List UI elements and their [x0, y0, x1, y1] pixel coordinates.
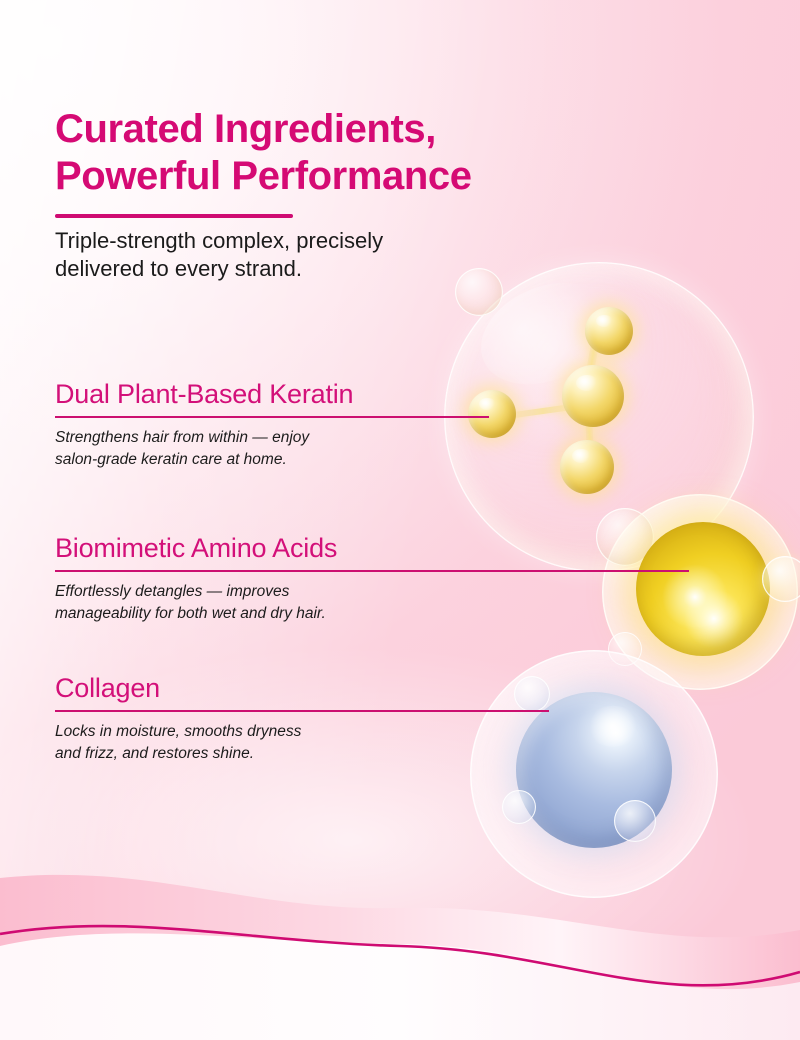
feature-title-collagen: Collagen: [55, 674, 549, 704]
content-layer: Curated Ingredients, Powerful Performanc…: [0, 0, 800, 1040]
feature-divider-collagen: [55, 710, 549, 712]
title-divider: [55, 214, 293, 218]
feature-desc-amino-acids-line-2: manageability for both wet and dry hair.: [55, 605, 326, 622]
page-title-line-2: Powerful Performance: [55, 153, 655, 200]
feature-block-amino-acids: Biomimetic Amino Acids Effortlessly deta…: [55, 534, 689, 625]
page-subtitle-line-1: Triple-strength complex, precisely: [55, 228, 383, 253]
feature-desc-amino-acids-line-1: Effortlessly detangles — improves: [55, 583, 289, 600]
feature-desc-collagen-line-1: Locks in moisture, smooths dryness: [55, 723, 301, 740]
feature-desc-keratin-line-1: Strengthens hair from within — enjoy: [55, 429, 309, 446]
page-subtitle-line-2: delivered to every strand.: [55, 256, 302, 281]
feature-title-amino-acids: Biomimetic Amino Acids: [55, 534, 689, 564]
feature-desc-collagen: Locks in moisture, smooths dryness and f…: [55, 721, 549, 765]
feature-desc-collagen-line-2: and frizz, and restores shine.: [55, 745, 254, 762]
feature-divider-amino-acids: [55, 570, 689, 572]
page-title: Curated Ingredients, Powerful Performanc…: [55, 106, 655, 200]
feature-block-keratin: Dual Plant-Based Keratin Strengthens hai…: [55, 380, 489, 471]
ingredient-infographic-poster: Curated Ingredients, Powerful Performanc…: [0, 0, 800, 1040]
page-title-line-1: Curated Ingredients,: [55, 106, 655, 153]
page-subtitle: Triple-strength complex, precisely deliv…: [55, 227, 485, 282]
feature-desc-amino-acids: Effortlessly detangles — improves manage…: [55, 581, 689, 625]
feature-block-collagen: Collagen Locks in moisture, smooths dryn…: [55, 674, 549, 765]
feature-desc-keratin: Strengthens hair from within — enjoy sal…: [55, 427, 489, 471]
feature-title-keratin: Dual Plant-Based Keratin: [55, 380, 489, 410]
feature-desc-keratin-line-2: salon-grade keratin care at home.: [55, 451, 287, 468]
feature-divider-keratin: [55, 416, 489, 418]
